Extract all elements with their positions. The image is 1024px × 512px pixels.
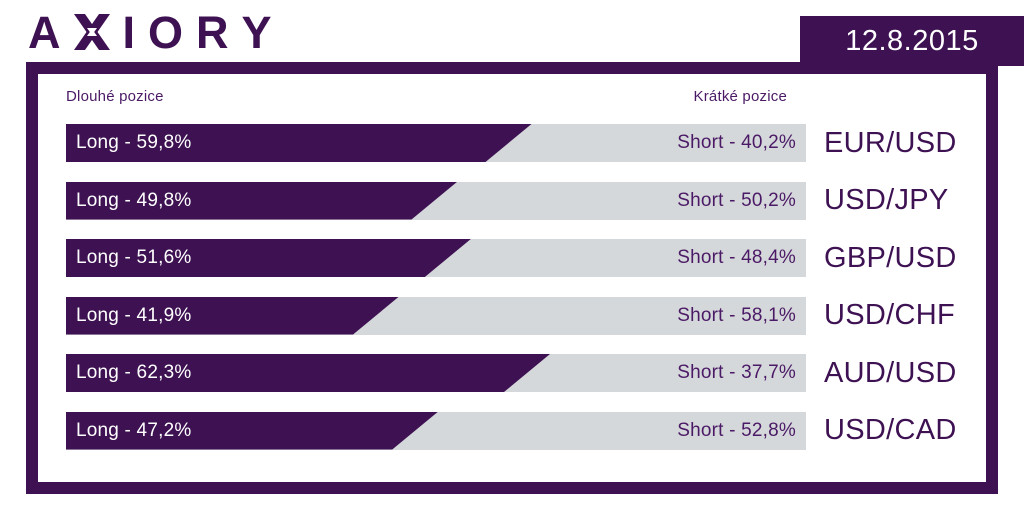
currency-pair-label: USD/JPY bbox=[824, 182, 949, 220]
short-position-label: Short - 48,4% bbox=[677, 247, 796, 269]
sentiment-row: Long - 47,2%Short - 52,8%USD/CAD bbox=[38, 406, 986, 464]
long-position-label: Long - 41,9% bbox=[76, 305, 191, 327]
logo-letter-a: A bbox=[28, 10, 61, 55]
currency-pair-label: GBP/USD bbox=[824, 239, 957, 277]
date-badge: 12.8.2015 bbox=[800, 16, 1024, 66]
axiory-logo: A I O R Y bbox=[28, 9, 272, 55]
short-position-label: Short - 50,2% bbox=[677, 190, 796, 212]
sentiment-bar-track: Long - 62,3%Short - 37,7% bbox=[66, 354, 806, 392]
column-title-short: Krátké pozice bbox=[694, 88, 787, 105]
sentiment-row: Long - 49,8%Short - 50,2%USD/JPY bbox=[38, 176, 986, 234]
logo-letter-r: R bbox=[196, 10, 229, 55]
short-position-label: Short - 40,2% bbox=[677, 132, 796, 154]
sentiment-bar-track: Long - 51,6%Short - 48,4% bbox=[66, 239, 806, 277]
column-titles: Dlouhé pozice Krátké pozice bbox=[38, 88, 986, 112]
sentiment-bar-track: Long - 49,8%Short - 50,2% bbox=[66, 182, 806, 220]
sentiment-row: Long - 59,8%Short - 40,2%EUR/USD bbox=[38, 118, 986, 176]
logo-x-icon bbox=[74, 14, 110, 50]
content-frame-inner: Dlouhé pozice Krátké pozice Long - 59,8%… bbox=[38, 74, 986, 482]
page-header: A I O R Y 12.8.2015 bbox=[0, 0, 1024, 66]
content-frame: Dlouhé pozice Krátké pozice Long - 59,8%… bbox=[26, 62, 998, 494]
column-title-long: Dlouhé pozice bbox=[66, 88, 164, 105]
long-position-label: Long - 59,8% bbox=[76, 132, 191, 154]
long-position-label: Long - 49,8% bbox=[76, 190, 191, 212]
currency-pair-label: USD/CAD bbox=[824, 412, 957, 450]
logo-letter-y: Y bbox=[242, 10, 272, 55]
long-position-label: Long - 51,6% bbox=[76, 247, 191, 269]
sentiment-bar-track: Long - 41,9%Short - 58,1% bbox=[66, 297, 806, 335]
logo-letter-o: O bbox=[148, 10, 183, 55]
sentiment-row: Long - 51,6%Short - 48,4%GBP/USD bbox=[38, 233, 986, 291]
currency-pair-label: AUD/USD bbox=[824, 354, 957, 392]
sentiment-row: Long - 62,3%Short - 37,7%AUD/USD bbox=[38, 348, 986, 406]
short-position-label: Short - 58,1% bbox=[677, 305, 796, 327]
short-position-label: Short - 52,8% bbox=[677, 420, 796, 442]
sentiment-bar-track: Long - 47,2%Short - 52,8% bbox=[66, 412, 806, 450]
currency-pair-label: USD/CHF bbox=[824, 297, 955, 335]
long-position-label: Long - 47,2% bbox=[76, 420, 191, 442]
sentiment-rows: Long - 59,8%Short - 40,2%EUR/USDLong - 4… bbox=[38, 118, 986, 463]
sentiment-row: Long - 41,9%Short - 58,1%USD/CHF bbox=[38, 291, 986, 349]
currency-pair-label: EUR/USD bbox=[824, 124, 957, 162]
logo-letter-i: I bbox=[123, 10, 136, 55]
long-position-label: Long - 62,3% bbox=[76, 362, 191, 384]
short-position-label: Short - 37,7% bbox=[677, 362, 796, 384]
sentiment-bar-track: Long - 59,8%Short - 40,2% bbox=[66, 124, 806, 162]
sentiment-infographic: A I O R Y 12.8.2015 Dlouhé pozice Krátké… bbox=[0, 0, 1024, 512]
